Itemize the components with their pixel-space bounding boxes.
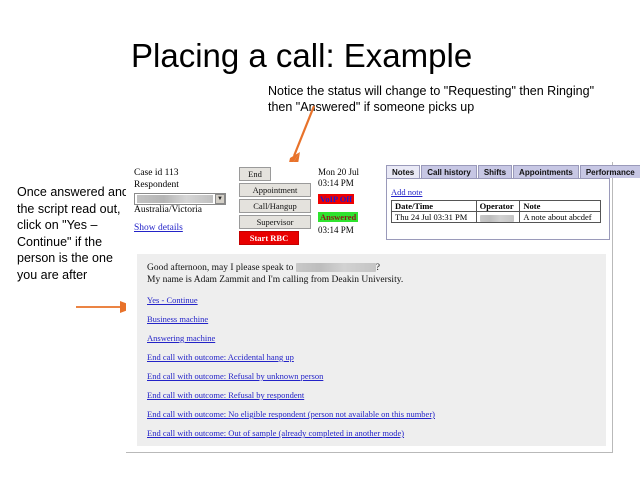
status-time-top: 03:14 PM (318, 178, 386, 189)
table-header-row: Date/Time Operator Note (392, 201, 601, 212)
outcome-link-list: Yes - Continue Business machine Answerin… (147, 295, 596, 438)
end-button[interactable]: End (239, 167, 271, 181)
column-note: Note (520, 201, 600, 212)
script-greeting-line: Good afternoon, may I please speak to ? (147, 262, 596, 274)
column-operator: Operator (476, 201, 520, 212)
tab-appointments[interactable]: Appointments (513, 165, 579, 178)
script-greeting-suffix: ? (376, 263, 380, 273)
status-date: Mon 20 Jul (318, 167, 386, 178)
call-hangup-button[interactable]: Call/Hangup (239, 199, 311, 213)
tab-bar: Notes Call history Shifts Appointments P… (386, 165, 610, 178)
option-refusal-respondent[interactable]: End call with outcome: Refusal by respon… (147, 390, 596, 400)
option-accidental-hang-up[interactable]: End call with outcome: Accidental hang u… (147, 352, 596, 362)
cell-datetime: Thu 24 Jul 03:31 PM (392, 212, 477, 223)
cell-operator (476, 212, 520, 223)
application-screenshot: Case id 113 Respondent ▼ Australia/Victo… (126, 162, 613, 453)
script-intro-line: My name is Adam Zammit and I'm calling f… (147, 274, 596, 286)
annotation-status-change: Notice the status will change to "Reques… (268, 84, 608, 115)
call-status-badge: Answered (318, 212, 358, 222)
option-business-machine[interactable]: Business machine (147, 314, 596, 324)
call-action-buttons: End Appointment Call/Hangup Supervisor S… (239, 167, 311, 247)
supervisor-button[interactable]: Supervisor (239, 215, 311, 229)
notes-tab-body: Add note Date/Time Operator Note Thu 24 … (386, 178, 610, 240)
option-answering-machine[interactable]: Answering machine (147, 333, 596, 343)
cell-note: A note about abcdef (520, 212, 600, 223)
respondent-select-value (137, 195, 213, 203)
option-yes-continue[interactable]: Yes - Continue (147, 295, 596, 305)
tab-notes[interactable]: Notes (386, 165, 420, 178)
script-panel: Good afternoon, may I please speak to ? … (137, 254, 606, 446)
call-control-bar: Case id 113 Respondent ▼ Australia/Victo… (126, 162, 612, 242)
chevron-down-icon[interactable]: ▼ (215, 194, 225, 204)
page-title: Placing a call: Example (131, 36, 531, 76)
status-time-bottom: 03:14 PM (318, 225, 386, 236)
option-out-of-sample[interactable]: End call with outcome: Out of sample (al… (147, 428, 596, 438)
script-greeting-text: Good afternoon, may I please speak to (147, 263, 296, 273)
slide-canvas: Placing a call: Example Notice the statu… (0, 0, 640, 480)
voip-status-badge: VoIP Off (318, 194, 354, 204)
show-details-link[interactable]: Show details (134, 223, 183, 233)
column-datetime: Date/Time (392, 201, 477, 212)
detail-tab-panel: Notes Call history Shifts Appointments P… (386, 165, 610, 240)
notes-table: Date/Time Operator Note Thu 24 Jul 03:31… (391, 200, 601, 223)
call-status-panel: Mon 20 Jul 03:14 PM VoIP Off Answered 03… (318, 167, 386, 236)
add-note-link[interactable]: Add note (391, 187, 422, 197)
option-refusal-unknown-person[interactable]: End call with outcome: Refusal by unknow… (147, 371, 596, 381)
redaction-block (480, 215, 514, 222)
respondent-select[interactable]: ▼ (134, 193, 226, 205)
option-no-eligible-respondent[interactable]: End call with outcome: No eligible respo… (147, 409, 596, 419)
table-row[interactable]: Thu 24 Jul 03:31 PM A note about abcdef (392, 212, 601, 223)
redaction-block (296, 263, 376, 272)
start-rbc-button[interactable]: Start RBC (239, 231, 299, 245)
tab-call-history[interactable]: Call history (421, 165, 477, 178)
tab-shifts[interactable]: Shifts (478, 165, 512, 178)
annotation-yes-continue: Once answered and the script read out, c… (17, 184, 129, 283)
appointment-button[interactable]: Appointment (239, 183, 311, 197)
tab-performance[interactable]: Performance (580, 165, 640, 178)
